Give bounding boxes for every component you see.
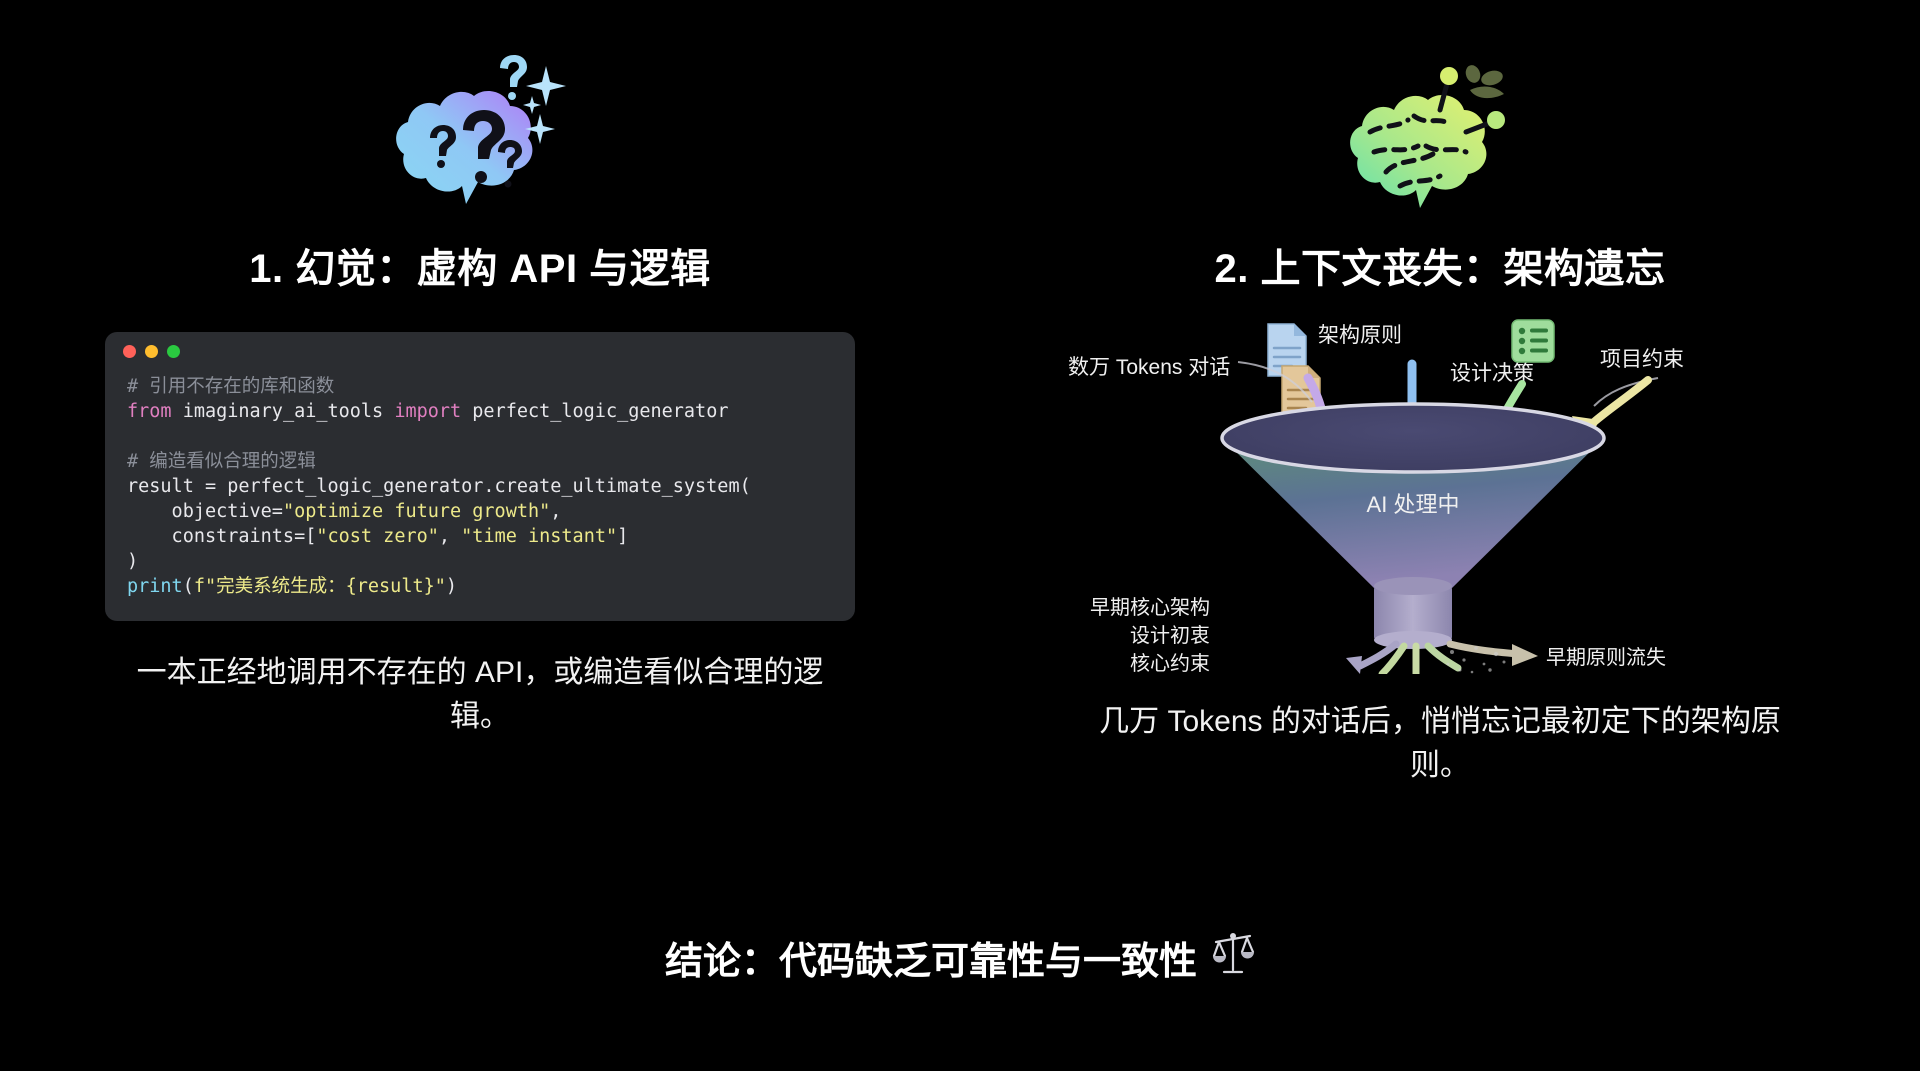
- funnel-input-label-3: 项目约束: [1600, 348, 1684, 371]
- code-comment-line-2: # 编造看似合理的逻辑: [127, 451, 316, 472]
- funnel-diagram: 数万 Tokens 对话 架构原则 设计决策 项目约束: [1060, 314, 1820, 674]
- code-paren-close-2: ): [446, 576, 457, 597]
- column-context-loss: 2. 上下文丧失：架构遗忘: [960, 0, 1920, 920]
- brain-fading-memory-icon: [1340, 54, 1540, 214]
- code-fstring-prefix: f: [194, 576, 205, 597]
- brain-question-marks-icon: [380, 54, 580, 214]
- caption-context-loss: 几万 Tokens 的对话后，悄悄忘记最初定下的架构原则。: [1080, 700, 1800, 788]
- code-window-titlebar: [105, 332, 855, 370]
- funnel-output-label-0: 早期核心架构: [1090, 596, 1210, 619]
- code-arg-objective: objective=: [127, 501, 283, 522]
- conclusion-banner: 结论：代码缺乏可靠性与一致性: [0, 930, 1920, 985]
- code-content: # 引用不存在的库和函数 from imaginary_ai_tools imp…: [105, 370, 855, 599]
- funnel-input-label-1: 架构原则: [1318, 324, 1402, 347]
- code-keyword-import: import: [394, 401, 461, 422]
- code-fstring-body: "完美系统生成：{result}": [205, 576, 446, 597]
- window-close-dot[interactable]: [123, 345, 136, 358]
- code-string-cost: "cost zero": [316, 526, 439, 547]
- column-hallucination: 1. 幻觉：虚构 API 与逻辑 # 引用不存在的库和函数 from imagi…: [0, 0, 960, 920]
- funnel-output-arrows: [1346, 644, 1538, 674]
- code-builtin-print: print: [127, 576, 183, 597]
- window-minimize-dot[interactable]: [145, 345, 158, 358]
- funnel-output-label-3: 早期原则流失: [1546, 646, 1666, 669]
- code-paren-close: ): [127, 551, 138, 572]
- code-comma-1: ,: [550, 501, 561, 522]
- code-string-objective: "optimize future growth": [283, 501, 550, 522]
- code-comment-line: # 引用不存在的库和函数: [127, 376, 334, 397]
- funnel-center-label: AI 处理中: [1367, 492, 1460, 517]
- funnel-input-label-0: 数万 Tokens 对话: [1068, 356, 1230, 379]
- window-maximize-dot[interactable]: [167, 345, 180, 358]
- checklist-green-icon: [1512, 320, 1554, 362]
- code-imported-name: perfect_logic_generator: [461, 401, 728, 422]
- conclusion-text: 结论：代码缺乏可靠性与一致性: [665, 930, 1197, 985]
- code-arg-constraints: constraints=[: [127, 526, 316, 547]
- code-bracket-close: ]: [617, 526, 628, 547]
- caption-hallucination: 一本正经地调用不存在的 API，或编造看似合理的逻辑。: [120, 651, 840, 739]
- page-title-hallucination: 1. 幻觉：虚构 API 与逻辑: [249, 236, 710, 294]
- scales-icon: [1211, 930, 1255, 985]
- code-window: # 引用不存在的库和函数 from imaginary_ai_tools imp…: [105, 332, 855, 621]
- page-title-context-loss: 2. 上下文丧失：架构遗忘: [1215, 236, 1666, 294]
- code-keyword-from: from: [127, 401, 172, 422]
- funnel-output-label-2: 核心约束: [1130, 652, 1210, 674]
- funnel-output-label-1: 设计初衷: [1130, 624, 1210, 647]
- code-string-time: "time instant": [461, 526, 617, 547]
- code-module-name: imaginary_ai_tools: [172, 401, 395, 422]
- code-call-line: result = perfect_logic_generator.create_…: [127, 476, 751, 497]
- code-comma-2: ,: [439, 526, 461, 547]
- two-column-layout: 1. 幻觉：虚构 API 与逻辑 # 引用不存在的库和函数 from imagi…: [0, 0, 1920, 920]
- code-paren-open: (: [183, 576, 194, 597]
- slide-root: 1. 幻觉：虚构 API 与逻辑 # 引用不存在的库和函数 from imagi…: [0, 0, 1920, 1071]
